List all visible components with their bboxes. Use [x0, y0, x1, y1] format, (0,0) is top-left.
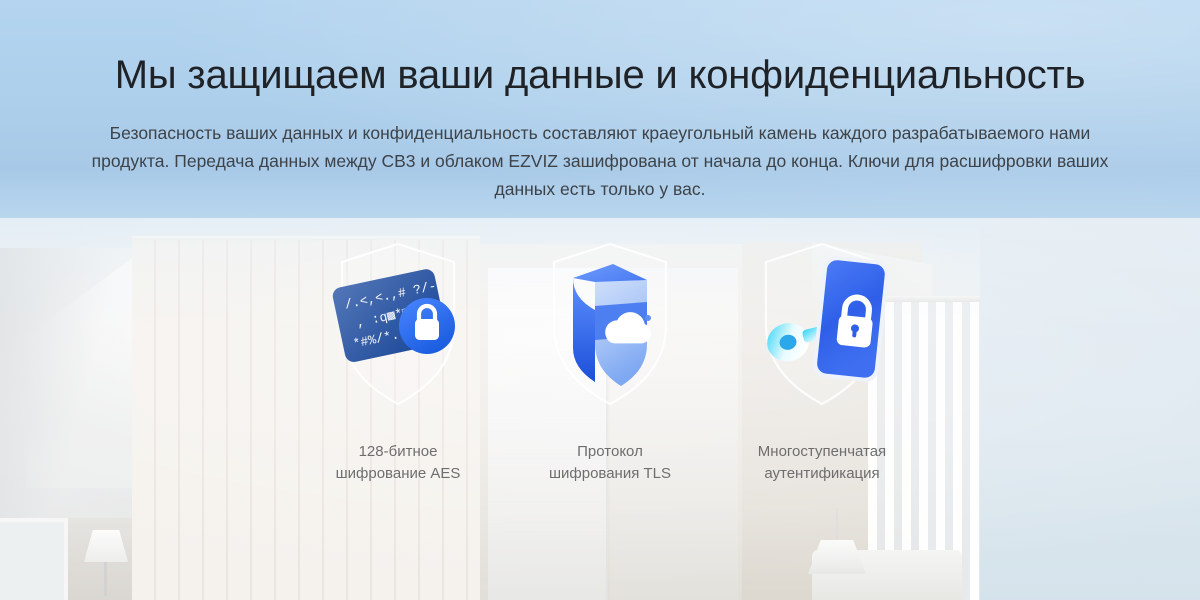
page-subtitle: Безопасность ваших данных и конфиденциал…: [78, 98, 1123, 203]
door-frame: [0, 518, 68, 600]
shield-frame-aes: /.<,<.,# ?/- , :q▩*□ *#%/*.: [323, 240, 473, 425]
floor-lamp-stem: [104, 562, 107, 596]
shield-frame-mfa: [747, 240, 897, 425]
feature-caption-multi-factor-auth: Многоступенчатая аутентификация: [758, 441, 886, 485]
far-right-wall: [980, 218, 1200, 600]
key-phone-lock-icon: [747, 240, 897, 425]
feature-item-tls-protocol: Протокол шифрования TLS: [512, 240, 708, 540]
feature-caption-tls-protocol: Протокол шифрования TLS: [549, 441, 671, 485]
feature-item-aes-encryption: /.<,<.,# ?/- , :q▩*□ *#%/*.: [300, 240, 496, 540]
header-band: Мы защищаем ваши данные и конфиденциальн…: [0, 0, 1200, 218]
feature-caption-aes-encryption: 128-битное шифрование AES: [336, 441, 461, 485]
page-title: Мы защищаем ваши данные и конфиденциальн…: [50, 0, 1150, 98]
feature-item-multi-factor-auth: Многоступенчатая аутентификация: [724, 240, 920, 540]
security-banner: Мы защищаем ваши данные и конфиденциальн…: [0, 0, 1200, 600]
encrypted-card-lock-icon: /.<,<.,# ?/- , :q▩*□ *#%/*.: [323, 240, 473, 425]
room-photo-background: /.<,<.,# ?/- , :q▩*□ *#%/*.: [0, 218, 1200, 600]
header-content: Мы защищаем ваши данные и конфиденциальн…: [50, 0, 1150, 203]
cloud-shield-icon: [535, 240, 685, 425]
feature-list: /.<,<.,# ?/- , :q▩*□ *#%/*.: [300, 240, 920, 540]
shield-frame-tls: [535, 240, 685, 425]
